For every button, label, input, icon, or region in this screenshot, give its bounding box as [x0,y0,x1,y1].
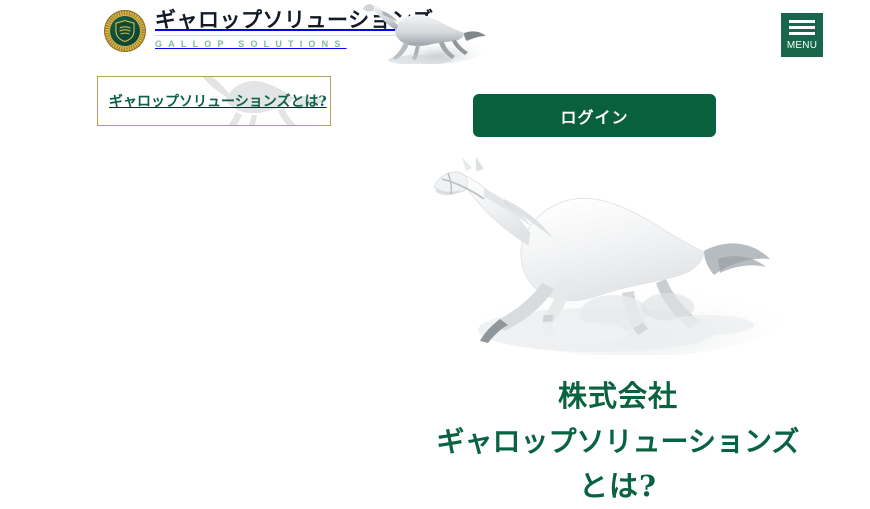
site-header: ギャロップソリューションズ GALLOP SOLUTIONS [0,0,870,68]
galloping-horse-large-icon [418,155,818,355]
site-logo[interactable]: ギャロップソリューションズ GALLOP SOLUTIONS [104,6,434,62]
menu-button[interactable]: MENU [781,13,823,57]
menu-button-label: MENU [787,40,817,51]
gallop-shield-emblem-icon [104,10,146,52]
page-title-line-1: 株式会社 [400,374,836,419]
about-nav-box[interactable]: ギャロップソリューションズとは? [97,76,331,126]
login-button[interactable]: ログイン [473,94,716,137]
about-nav-label: ギャロップソリューションズとは? [98,91,327,111]
logo-subtitle: GALLOP SOLUTIONS [155,35,434,50]
logo-title: ギャロップソリューションズ [155,6,434,34]
page-root: ギャロップソリューションズ GALLOP SOLUTIONS [0,0,870,500]
page-title-line-2: ギャロップソリューションズ [400,419,836,464]
logo-text-block: ギャロップソリューションズ GALLOP SOLUTIONS [155,6,434,50]
hamburger-icon [789,20,815,35]
hero-section: 株式会社 ギャロップソリューションズ とは? [400,155,836,500]
shield-icon [115,20,135,42]
page-title-line-3: とは? [400,464,836,509]
page-title: 株式会社 ギャロップソリューションズ とは? [400,374,836,509]
